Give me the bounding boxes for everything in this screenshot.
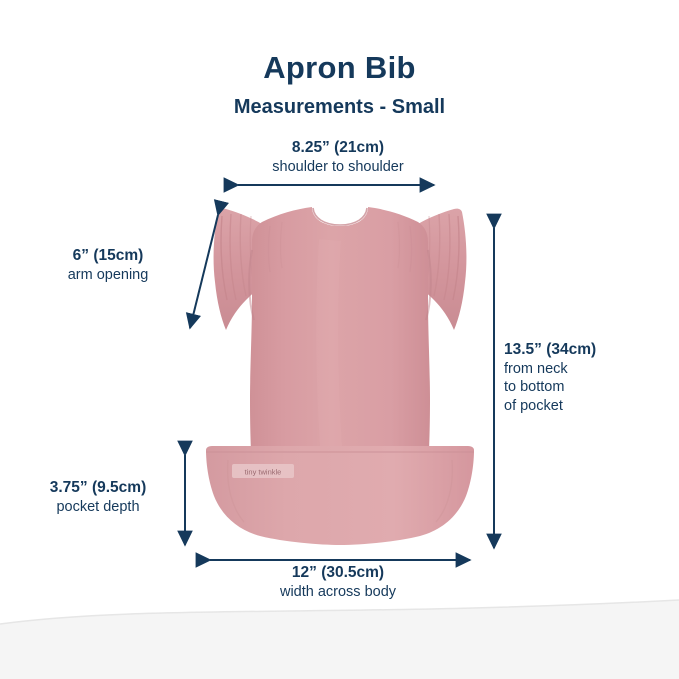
neck-to-bottom-value: 13.5” (34cm)	[504, 340, 674, 360]
label-pocket-depth: 3.75” (9.5cm) pocket depth	[18, 478, 178, 516]
label-neck-to-bottom: 13.5” (34cm) from neck to bottom of pock…	[504, 340, 674, 415]
arm-opening-description: arm opening	[28, 266, 188, 285]
neck-to-bottom-line2: to bottom	[504, 378, 674, 397]
shoulder-value: 8.25” (21cm)	[188, 138, 488, 158]
diagram-page: Apron Bib Measurements - Small	[0, 0, 679, 679]
label-arm-opening: 6” (15cm) arm opening	[28, 246, 188, 284]
label-shoulder-to-shoulder: 8.25” (21cm) shoulder to shoulder	[188, 138, 488, 176]
pocket-depth-description: pocket depth	[18, 498, 178, 517]
bottom-shade	[0, 600, 679, 679]
arm-opening-value: 6” (15cm)	[28, 246, 188, 266]
width-description: width across body	[188, 583, 488, 602]
neck-to-bottom-line1: from neck	[504, 360, 674, 379]
arrow-arm-opening	[190, 215, 218, 328]
shoulder-description: shoulder to shoulder	[188, 158, 488, 177]
width-value: 12” (30.5cm)	[188, 563, 488, 583]
bib-pocket: tiny twinkle	[206, 446, 474, 545]
brand-tag-text: tiny twinkle	[245, 468, 282, 477]
neck-to-bottom-line3: of pocket	[504, 397, 674, 416]
pocket-depth-value: 3.75” (9.5cm)	[18, 478, 178, 498]
bib-body	[249, 203, 431, 470]
label-width-across-body: 12” (30.5cm) width across body	[188, 563, 488, 601]
